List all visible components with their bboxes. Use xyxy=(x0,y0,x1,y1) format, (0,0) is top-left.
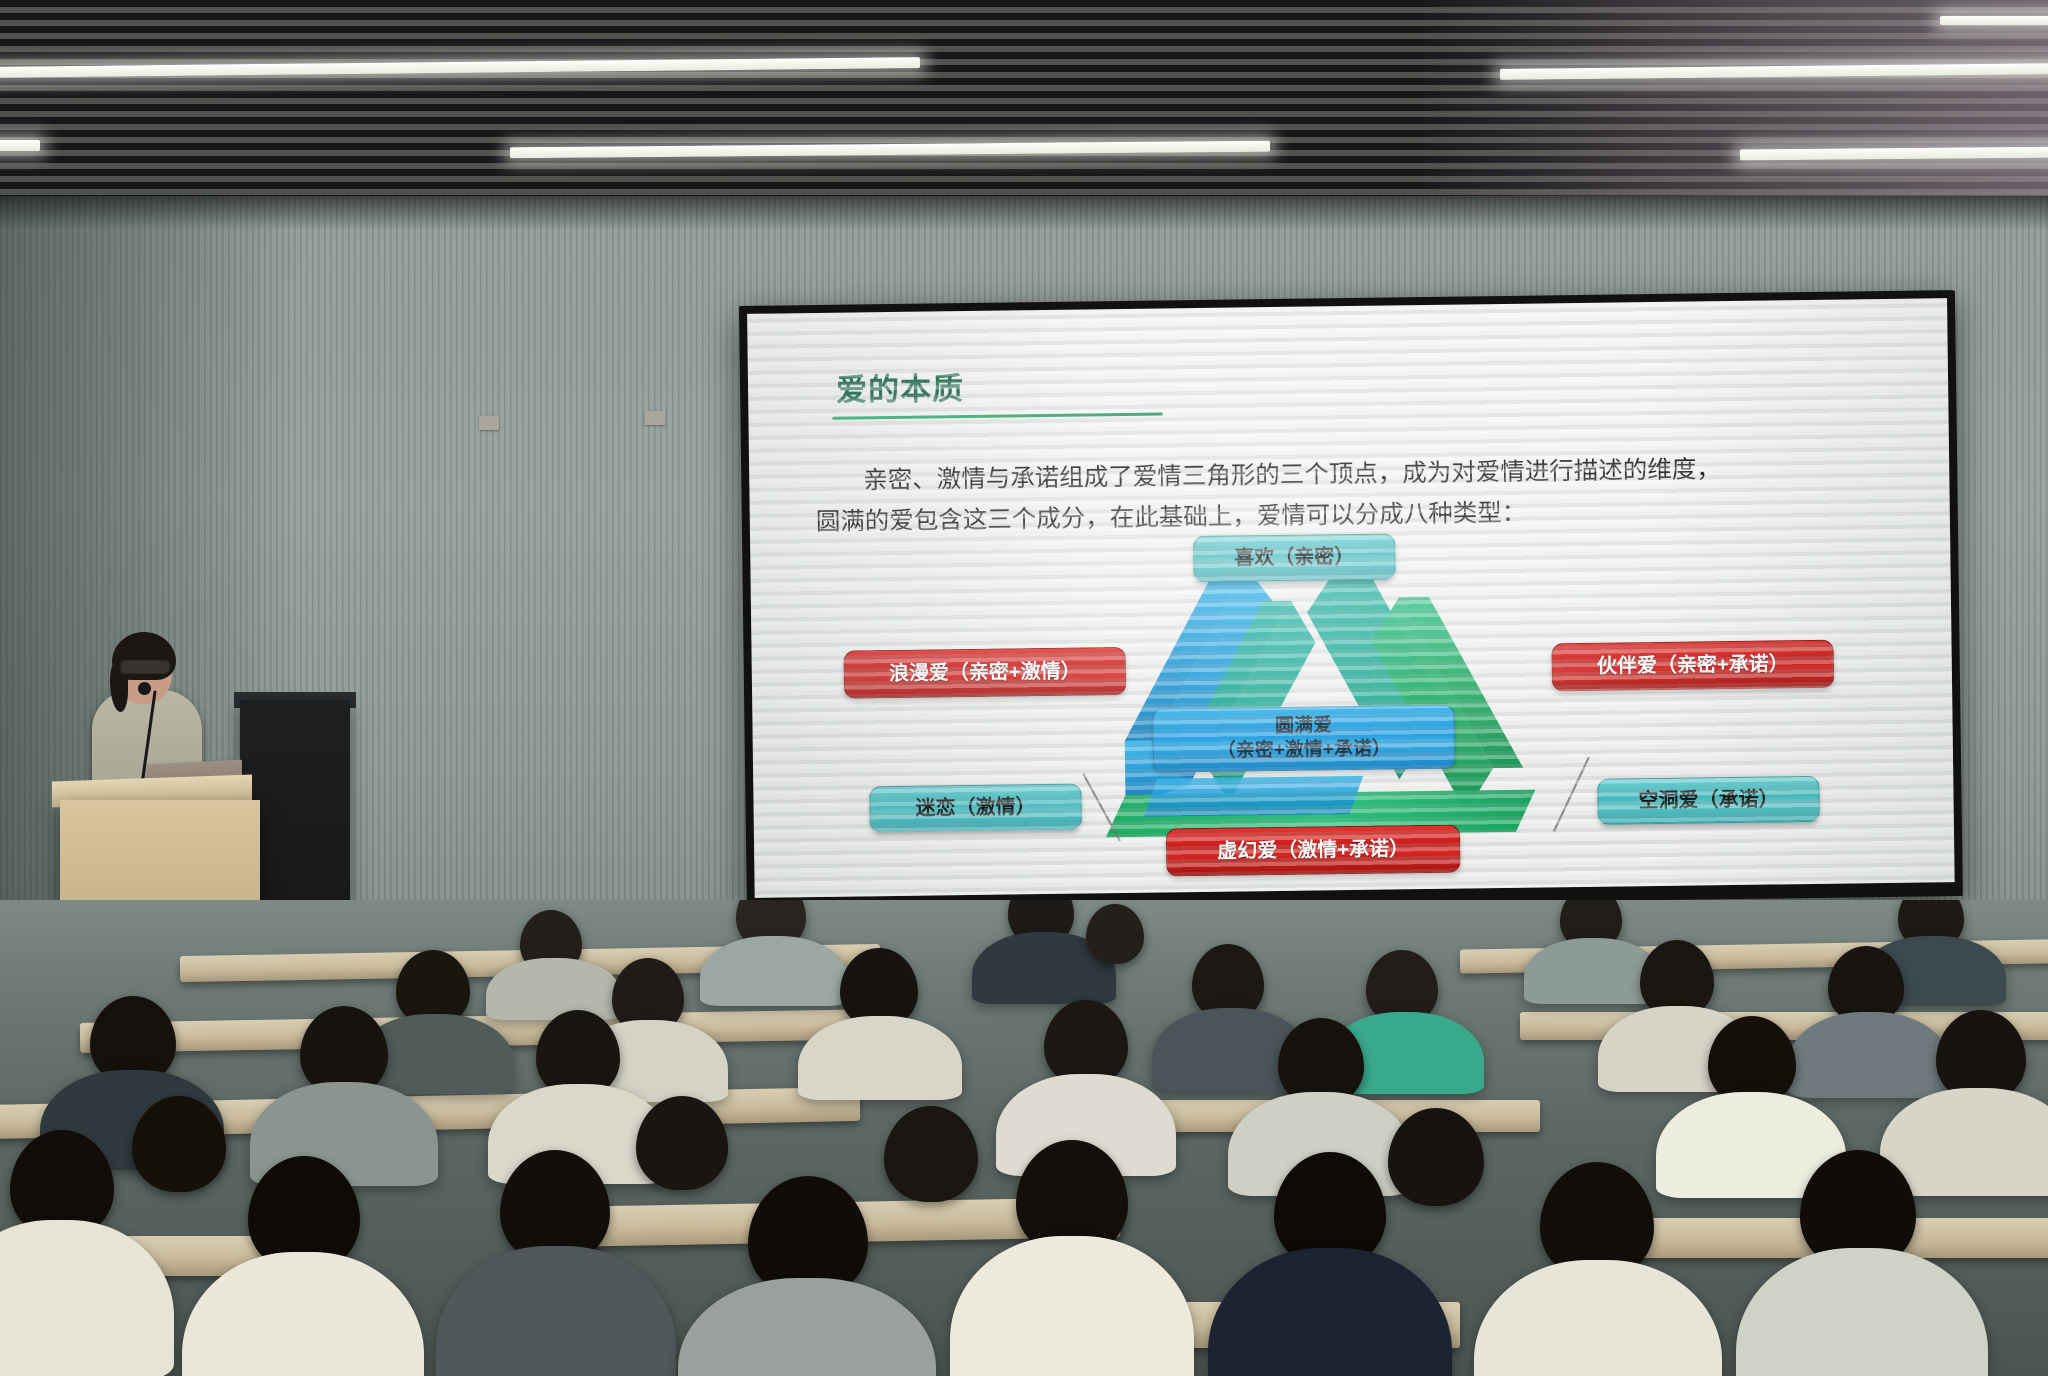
label-fatuous-love[interactable]: 虚幻爱（激情+承诺） xyxy=(1166,825,1461,877)
ceiling-slats xyxy=(0,0,2048,200)
audience-body xyxy=(486,958,622,1020)
wall-plate xyxy=(645,411,665,425)
audience-head xyxy=(636,1096,728,1190)
label-empty-love[interactable]: 空洞爱（承诺） xyxy=(1597,776,1820,825)
projection-screen-frame: 爱的本质 亲密、激情与承诺组成了爱情三角形的三个顶点，成为对爱情进行描述的维度，… xyxy=(739,290,1963,912)
label-companionate-love[interactable]: 伙伴爱（亲密+承诺） xyxy=(1551,640,1834,692)
audience-body xyxy=(436,1246,676,1376)
ceiling-light-strip xyxy=(510,141,1270,159)
presenter-glasses xyxy=(120,660,170,674)
audience-head xyxy=(1086,904,1144,964)
ceiling-glare xyxy=(1408,0,2048,200)
audience-body xyxy=(700,936,848,1006)
ceiling-light-strip xyxy=(1940,16,2048,25)
label-consummate-love[interactable]: 圆满爱 （亲密+激情+承诺） xyxy=(1152,705,1455,773)
audience-body xyxy=(950,1236,1194,1376)
label-liking[interactable]: 喜欢（亲密） xyxy=(1193,533,1396,582)
audience-body xyxy=(1788,1012,1950,1098)
audience-head xyxy=(132,1096,226,1192)
label-infatuation[interactable]: 迷恋（激情） xyxy=(869,784,1082,833)
wall-plate xyxy=(479,416,499,430)
audience-body xyxy=(678,1278,936,1376)
audience-area xyxy=(0,900,2048,1376)
title-underline xyxy=(832,412,1162,419)
slide-body-text: 亲密、激情与承诺组成了爱情三角形的三个顶点，成为对爱情进行描述的维度， 圆满的爱… xyxy=(815,447,1892,543)
audience-body xyxy=(798,1016,962,1100)
wall-top-shadow xyxy=(0,196,2048,230)
audience-body xyxy=(1736,1248,1988,1376)
slide-title: 爱的本质 xyxy=(836,363,965,410)
label-romantic-love[interactable]: 浪漫爱（亲密+激情） xyxy=(844,647,1127,699)
lecture-hall-photo: 爱的本质 亲密、激情与承诺组成了爱情三角形的三个顶点，成为对爱情进行描述的维度，… xyxy=(0,0,2048,1376)
ceiling-light-strip xyxy=(0,57,920,78)
microphone-icon xyxy=(138,682,151,695)
love-triangle-diagram: 喜欢（亲密） 浪漫爱（亲密+激情） 伙伴爱（亲密+承诺） 圆满爱 （亲密+激情+… xyxy=(750,530,1954,896)
ceiling-light-strip xyxy=(0,140,40,151)
audience-body xyxy=(1208,1248,1452,1376)
slide-content: 爱的本质 亲密、激情与承诺组成了爱情三角形的三个顶点，成为对爱情进行描述的维度，… xyxy=(747,298,1955,898)
projection-screen: 爱的本质 亲密、激情与承诺组成了爱情三角形的三个顶点，成为对爱情进行描述的维度，… xyxy=(747,298,1955,898)
audience-head xyxy=(884,1106,978,1202)
audience-body xyxy=(1474,1260,1722,1376)
audience-head xyxy=(1388,1108,1484,1206)
